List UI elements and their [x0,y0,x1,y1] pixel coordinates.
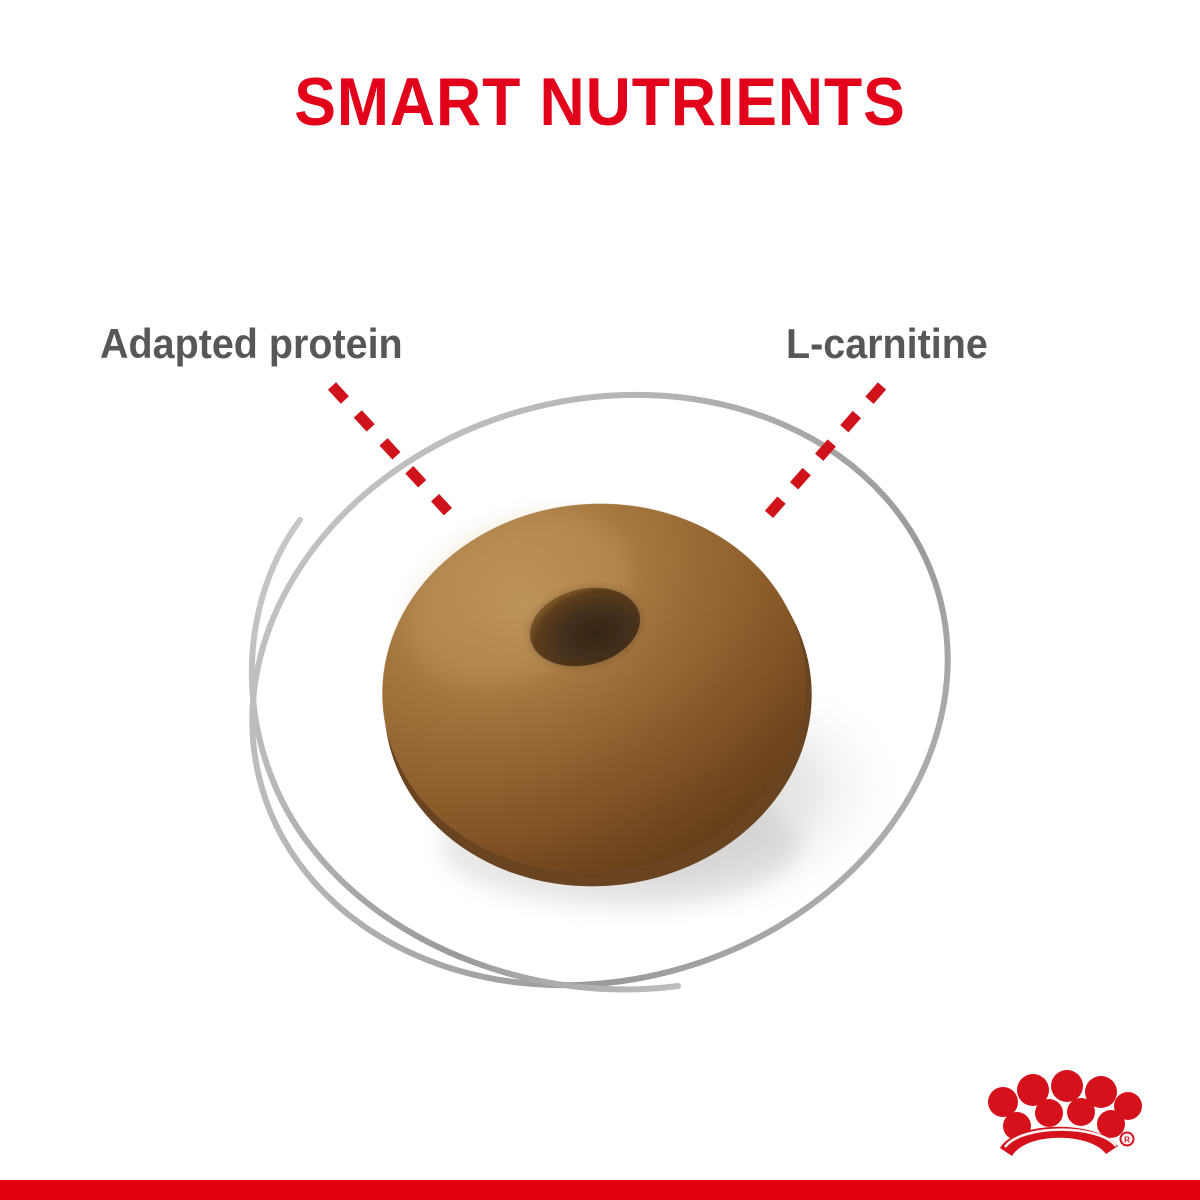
leader-line-adapted-protein [332,386,452,516]
registered-trademark-icon: R [1121,1133,1134,1146]
kibble-illustration [0,0,1200,1200]
callout-label-l-carnitine: L-carnitine [786,320,988,368]
product-feature-panel: SMART NUTRIENTS [0,0,1200,1200]
royal-canin-crown-logo: R [975,1068,1145,1160]
footer-accent-bar [0,1180,1200,1200]
svg-text:R: R [1124,1136,1130,1145]
callout-label-adapted-protein: Adapted protein [100,320,403,368]
